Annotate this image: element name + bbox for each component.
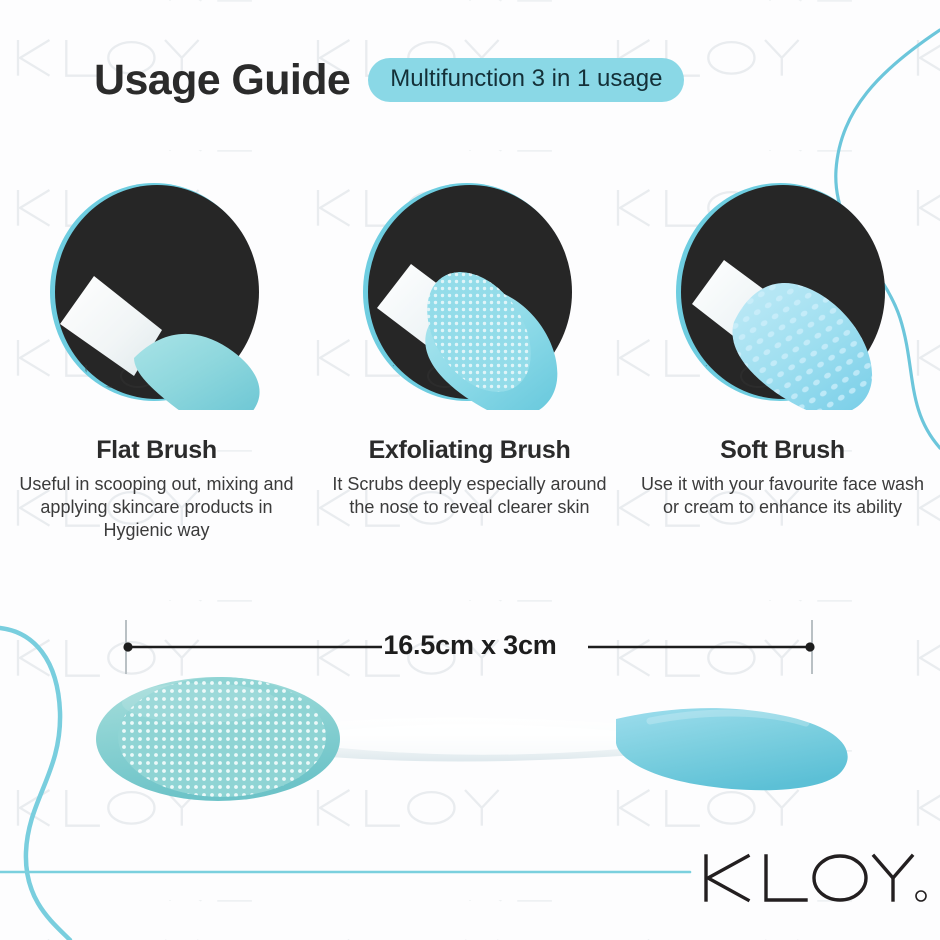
feature-list: Flat Brush Useful in scooping out, mixin… [0, 180, 940, 542]
brand-logo: ® [0, 838, 940, 918]
feature-title: Exfoliating Brush [325, 436, 615, 465]
feature-image-soft-brush [668, 180, 898, 410]
feature-image-flat-brush [42, 180, 272, 410]
registered-mark-icon [916, 891, 926, 901]
infographic-page: Usage Guide Multifunction 3 in 1 usage [0, 0, 940, 940]
product-scrub-gloss [122, 683, 278, 723]
feature-description: Useful in scooping out, mixing and apply… [12, 473, 302, 542]
caption-exfoliating-brush: Exfoliating Brush It Scrubs deeply espec… [325, 436, 615, 519]
caption-soft-brush: Soft Brush Use it with your favourite fa… [638, 436, 928, 519]
caption-flat-brush: Flat Brush Useful in scooping out, mixin… [12, 436, 302, 542]
feature-description: Use it with your favourite face wash or … [638, 473, 928, 519]
dimension-indicator: 16.5cm x 3cm [0, 612, 940, 682]
feature-title: Soft Brush [638, 436, 928, 465]
feature-title: Flat Brush [12, 436, 302, 465]
feature-exfoliating-brush: Exfoliating Brush It Scrubs deeply espec… [313, 180, 626, 542]
feature-flat-brush: Flat Brush Useful in scooping out, mixin… [0, 180, 313, 542]
dimension-label: 16.5cm x 3cm [0, 630, 940, 661]
feature-soft-brush: Soft Brush Use it with your favourite fa… [626, 180, 939, 542]
page-header: Usage Guide Multifunction 3 in 1 usage [94, 58, 684, 102]
footer: ® [0, 838, 940, 918]
product-handle-highlight [330, 724, 620, 755]
page-title: Usage Guide [94, 59, 350, 102]
feature-description: It Scrubs deeply especially around the n… [325, 473, 615, 519]
subtitle-badge: Multifunction 3 in 1 usage [368, 58, 684, 102]
feature-image-exfoliating-brush [355, 180, 585, 410]
